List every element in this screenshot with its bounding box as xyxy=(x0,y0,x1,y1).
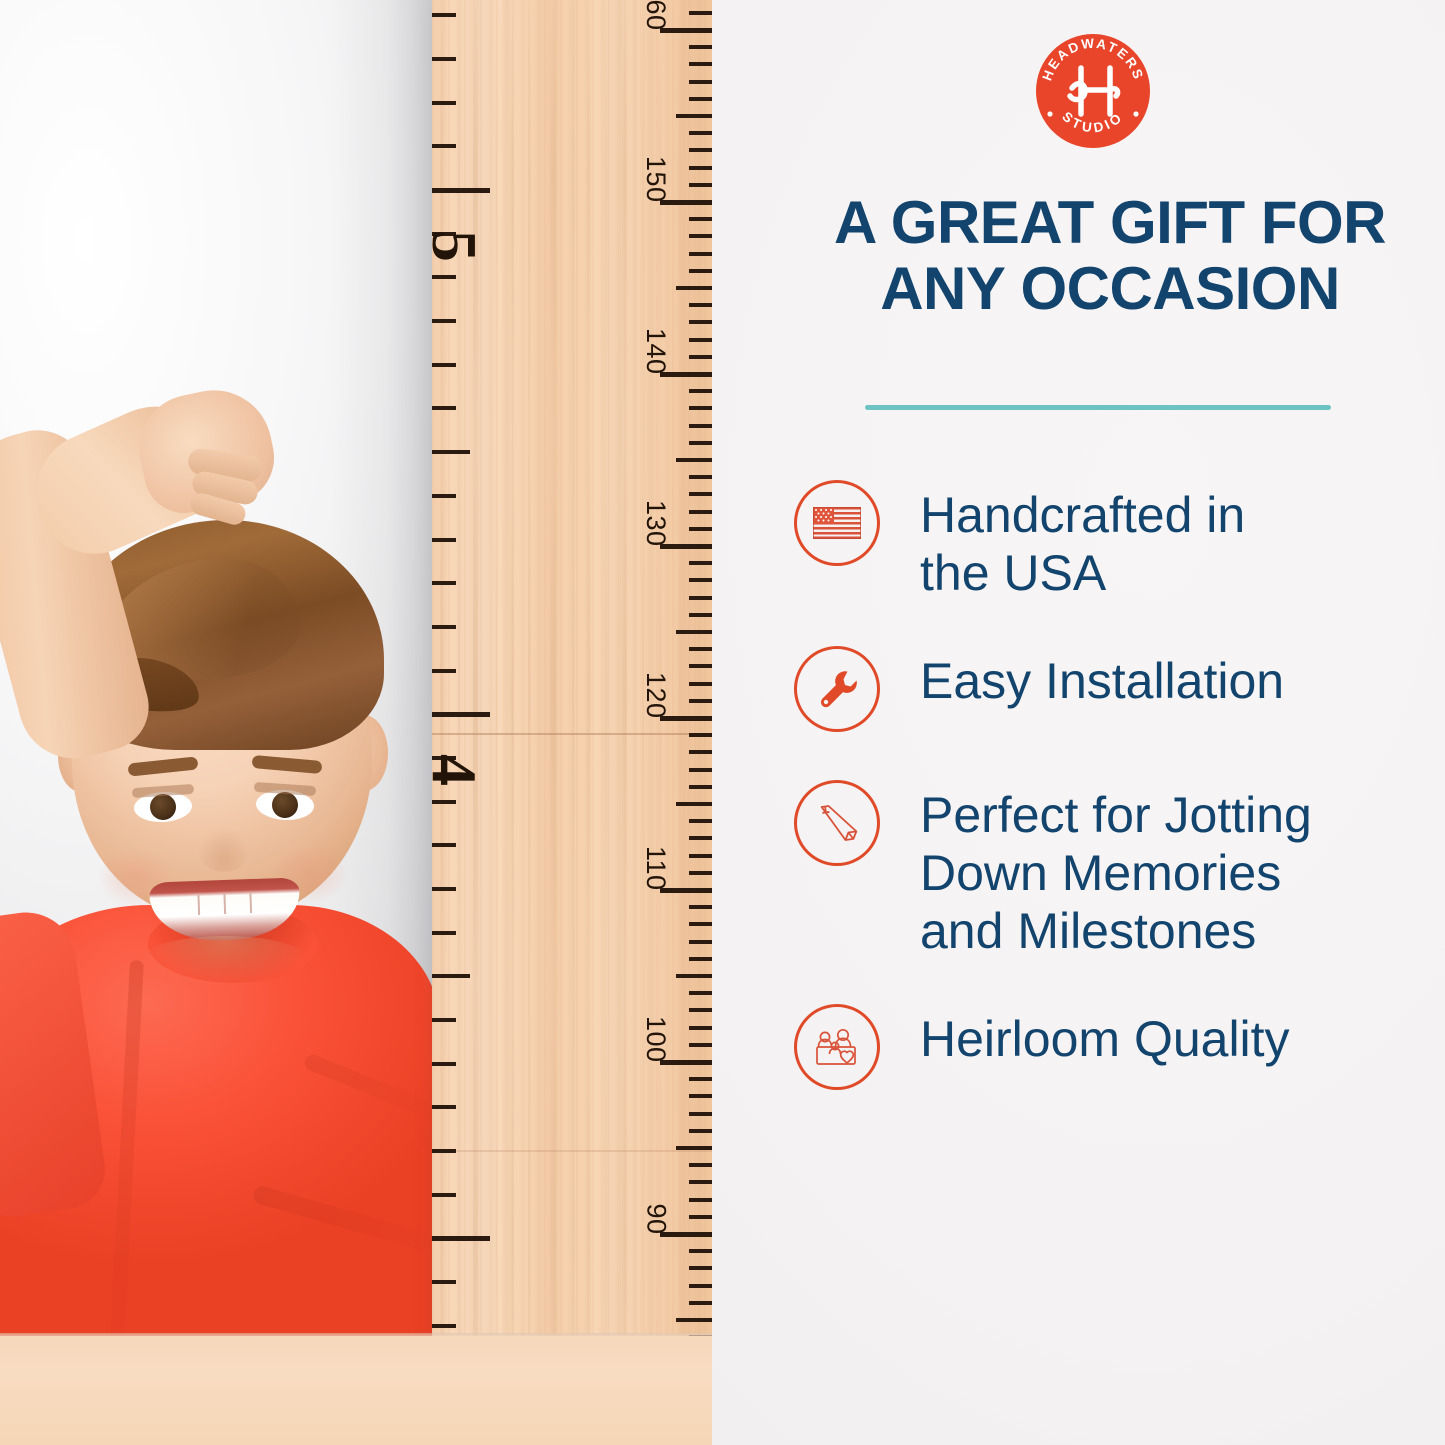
lifestyle-photo: 160150140130120110100908054 xyxy=(0,0,712,1445)
ruler-cm-minor-tick xyxy=(689,613,712,617)
ruler-cm-label: 120 xyxy=(641,672,672,719)
ruler-cm-minor-tick xyxy=(676,114,712,118)
ruler-inch-tick xyxy=(432,800,456,804)
ruler-cm-minor-tick xyxy=(689,166,712,170)
usa-flag-icon xyxy=(794,480,880,566)
ruler-cm-minor-tick xyxy=(689,940,712,944)
ruler-cm-minor-tick xyxy=(689,1284,712,1288)
wood-floor xyxy=(0,1336,712,1445)
headline-line-1: A GREAT GIFT FOR xyxy=(834,189,1386,256)
feature-line: Handcrafted in xyxy=(920,487,1245,543)
ruler-inch-tick xyxy=(432,319,456,323)
ruler-inch-tick xyxy=(432,1324,456,1328)
ruler-cm-minor-tick xyxy=(689,922,712,926)
marketing-content-panel: HEADWATERS STUDIO A GREAT GIFT FOR xyxy=(712,0,1445,1445)
ruler-cm-minor-tick xyxy=(689,217,712,221)
ruler-cm-minor-tick xyxy=(689,1163,712,1167)
ruler-cm-minor-tick xyxy=(689,1008,712,1012)
wood-grain xyxy=(678,0,681,1445)
ruler-inch-tick xyxy=(432,887,456,891)
ruler-cm-minor-tick xyxy=(689,682,712,686)
ruler-inch-tick xyxy=(432,144,456,148)
wood-grain xyxy=(510,0,514,1445)
ruler-inch-tick xyxy=(432,843,456,847)
ruler-cm-label: 110 xyxy=(641,846,672,891)
headline-line-2: ANY OCCASION xyxy=(800,256,1420,322)
chin xyxy=(140,936,310,986)
headline: A GREAT GIFT FOR ANY OCCASION xyxy=(800,190,1420,322)
ruler-cm-minor-tick xyxy=(689,1301,712,1305)
ruler-cm-label: 130 xyxy=(641,500,672,547)
ruler-inch-tick xyxy=(432,13,456,17)
ruler-cm-minor-tick xyxy=(689,561,712,565)
tooth-gap xyxy=(249,893,252,913)
ruler-inch-tick xyxy=(432,931,456,935)
ruler-foot-label: 5 xyxy=(422,230,486,262)
ruler-inch-tick xyxy=(432,406,456,410)
tooth-gap xyxy=(223,894,226,914)
ruler-cm-minor-tick xyxy=(676,286,712,290)
wood-grain xyxy=(458,0,460,1445)
wood-grain xyxy=(473,0,478,1445)
feature-label: Handcrafted in the USA xyxy=(920,480,1245,602)
ruler-cm-minor-tick xyxy=(689,1026,712,1030)
headline-divider xyxy=(865,405,1331,410)
ruler-cm-minor-tick xyxy=(689,475,712,479)
ruler-cm-minor-tick xyxy=(689,183,712,187)
ruler-inch-tick xyxy=(432,101,456,105)
pencil-icon xyxy=(794,780,880,866)
feature-item-jotting-memories: Perfect for Jotting Down Memories and Mi… xyxy=(794,780,1444,960)
ruler-cm-minor-tick xyxy=(689,1266,712,1270)
feature-item-easy-installation: Easy Installation xyxy=(794,646,1444,732)
ruler-inch-tick xyxy=(432,494,456,498)
ruler-inch-tick xyxy=(432,1105,456,1109)
ruler-cm-minor-tick xyxy=(689,269,712,273)
ruler-inch-tick xyxy=(432,450,470,454)
ruler-cm-minor-tick xyxy=(689,131,712,135)
tooth-gap xyxy=(197,895,200,915)
ruler-cm-minor-tick xyxy=(689,578,712,582)
ruler-cm-minor-tick xyxy=(689,854,712,858)
ruler-inch-tick xyxy=(432,1280,456,1284)
ruler-inch-tick xyxy=(432,1062,456,1066)
ruler-cm-minor-tick xyxy=(676,1146,712,1150)
ruler-cm-minor-tick xyxy=(689,441,712,445)
feature-label: Easy Installation xyxy=(920,646,1284,710)
wood-grain xyxy=(550,0,556,1445)
ruler-cm-minor-tick xyxy=(689,1094,712,1098)
ruler-cm-minor-tick xyxy=(689,389,712,393)
ruler-inch-tick xyxy=(432,669,456,673)
ruler-cm-minor-tick xyxy=(689,871,712,875)
ruler-cm-minor-tick xyxy=(689,664,712,668)
ruler-cm-minor-tick xyxy=(689,647,712,651)
ruler-inch-tick xyxy=(432,1193,456,1197)
ruler-cm-minor-tick xyxy=(689,492,712,496)
ruler-cm-minor-tick xyxy=(689,1077,712,1081)
ruler-cm-minor-tick xyxy=(676,458,712,462)
ruler-inch-tick xyxy=(432,538,456,542)
ruler-cm-minor-tick xyxy=(689,338,712,342)
feature-item-handcrafted-usa: Handcrafted in the USA xyxy=(794,480,1444,602)
ruler-cm-minor-tick xyxy=(689,406,712,410)
ruler-cm-minor-tick xyxy=(689,750,712,754)
feature-line: Perfect for Jotting xyxy=(920,787,1312,843)
wrench-icon xyxy=(794,646,880,732)
ruler-foot-major-tick xyxy=(432,188,490,193)
ruler-cm-label: 150 xyxy=(641,156,672,203)
feature-item-heirloom-quality: Heirloom Quality xyxy=(794,1004,1444,1090)
ruler-cm-label: 160 xyxy=(641,0,672,31)
ruler-cm-minor-tick xyxy=(689,836,712,840)
ruler-cm-minor-tick xyxy=(689,303,712,307)
ruler-cm-minor-tick xyxy=(689,527,712,531)
ruler-cm-minor-tick xyxy=(689,1249,712,1253)
ruler-cm-minor-tick xyxy=(689,148,712,152)
ruler-inch-tick xyxy=(432,625,456,629)
ruler-cm-minor-tick xyxy=(689,1215,712,1219)
ruler-cm-minor-tick xyxy=(689,819,712,823)
feature-line: and Milestones xyxy=(920,903,1256,959)
ruler-cm-minor-tick xyxy=(689,768,712,772)
ruler-cm-minor-tick xyxy=(676,802,712,806)
child-subject xyxy=(0,0,432,1340)
wood-grain xyxy=(605,0,608,1445)
ruler-cm-minor-tick xyxy=(689,62,712,66)
wood-grain xyxy=(495,0,497,1445)
ruler-cm-minor-tick xyxy=(689,699,712,703)
ruler-inch-tick xyxy=(432,974,470,978)
ruler-cm-label: 100 xyxy=(641,1016,672,1063)
feature-line: Down Memories xyxy=(920,845,1281,901)
feature-label: Perfect for Jotting Down Memories and Mi… xyxy=(920,780,1312,960)
wood-grain xyxy=(440,0,443,1445)
ruler-cm-minor-tick xyxy=(689,733,712,737)
headwaters-studio-logo: HEADWATERS STUDIO xyxy=(1028,26,1158,156)
ruler-cm-minor-tick xyxy=(676,630,712,634)
iris xyxy=(149,793,176,820)
ruler-cm-minor-tick xyxy=(689,424,712,428)
ruler-cm-minor-tick xyxy=(689,80,712,84)
nose xyxy=(198,828,250,872)
ruler-inch-tick xyxy=(432,363,456,367)
ruler-cm-label: 140 xyxy=(641,328,672,375)
product-feature-image: 160150140130120110100908054 HEADWATERS S… xyxy=(0,0,1445,1445)
ruler-cm-minor-tick xyxy=(689,596,712,600)
wooden-growth-chart-ruler: 160150140130120110100908054 xyxy=(432,0,712,1445)
feature-line: the USA xyxy=(920,545,1106,601)
ruler-foot-label: 4 xyxy=(422,754,486,786)
ruler-cm-minor-tick xyxy=(689,355,712,359)
iris xyxy=(271,791,298,818)
ruler-cm-minor-tick xyxy=(689,234,712,238)
ruler-foot-major-tick xyxy=(432,1236,490,1241)
ruler-cm-minor-tick xyxy=(689,1043,712,1047)
ruler-cm-minor-tick xyxy=(676,974,712,978)
ruler-foot-major-tick xyxy=(432,712,490,717)
ruler-inch-tick xyxy=(432,581,456,585)
ruler-cm-minor-tick xyxy=(689,320,712,324)
ruler-cm-minor-tick xyxy=(689,11,712,15)
ruler-cm-minor-tick xyxy=(689,785,712,789)
ruler-cm-minor-tick xyxy=(689,991,712,995)
ruler-cm-minor-tick xyxy=(689,957,712,961)
ruler-cm-label: 90 xyxy=(641,1203,672,1234)
ruler-cm-minor-tick xyxy=(689,1112,712,1116)
ruler-cm-minor-tick xyxy=(689,905,712,909)
feature-list: Handcrafted in the USA Easy Installation xyxy=(794,472,1444,1110)
family-heart-icon xyxy=(794,1004,880,1090)
ruler-cm-minor-tick xyxy=(676,1318,712,1322)
ruler-cm-minor-tick xyxy=(689,1129,712,1133)
wood-grain xyxy=(622,0,627,1445)
ruler-inch-tick xyxy=(432,275,456,279)
ruler-inch-tick xyxy=(432,1149,456,1153)
ruler-inch-tick xyxy=(432,57,456,61)
ruler-cm-minor-tick xyxy=(689,1180,712,1184)
ruler-cm-minor-tick xyxy=(689,1198,712,1202)
ruler-cm-minor-tick xyxy=(689,252,712,256)
wood-grain xyxy=(587,0,591,1445)
ruler-inch-tick xyxy=(432,1018,456,1022)
ruler-cm-minor-tick xyxy=(689,45,712,49)
feature-label: Heirloom Quality xyxy=(920,1004,1290,1068)
ruler-cm-minor-tick xyxy=(689,510,712,514)
ruler-cm-minor-tick xyxy=(689,97,712,101)
wood-grain xyxy=(572,0,574,1445)
wood-grain xyxy=(528,0,531,1445)
